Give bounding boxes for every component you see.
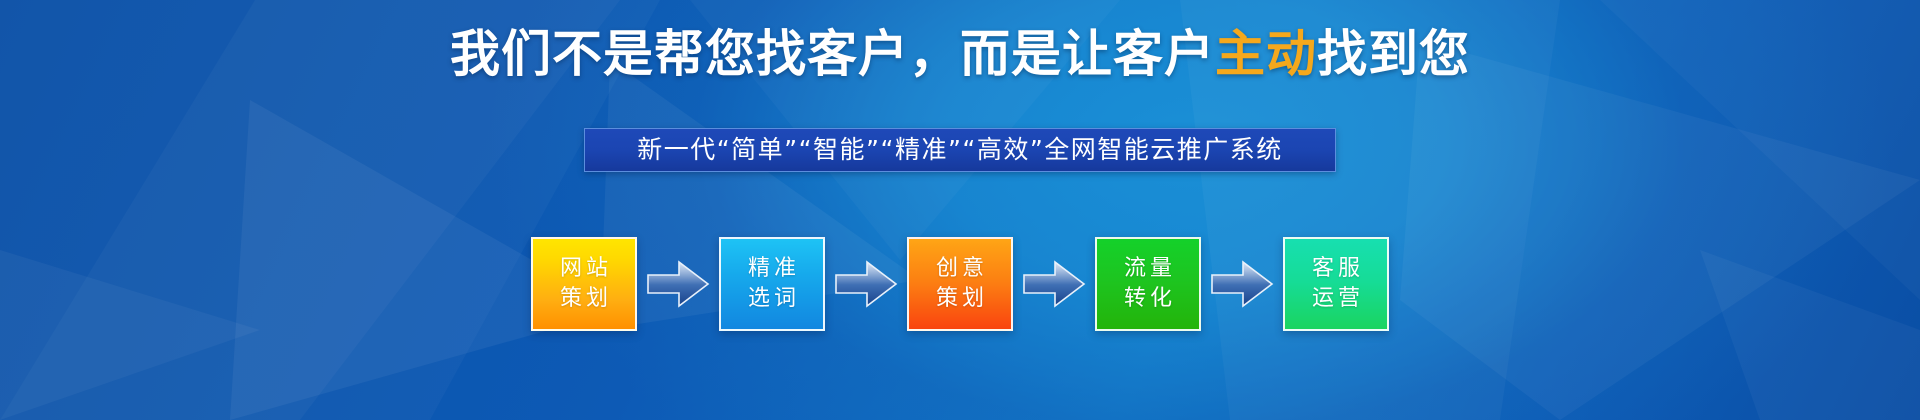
- subtitle-bar: 新一代“简单”“智能”“精准”“高效”全网智能云推广系统: [584, 128, 1336, 172]
- arrow-right-shape: [1210, 258, 1274, 310]
- process-flow: 网站 策划 精准 选词: [531, 224, 1389, 344]
- arrow-right-shape: [834, 258, 898, 310]
- flow-step-traffic-conversion[interactable]: 流量 转化: [1095, 237, 1201, 331]
- flow-step-website-planning[interactable]: 网站 策划: [531, 237, 637, 331]
- flow-step-creative-planning[interactable]: 创意 策划: [907, 237, 1013, 331]
- arrow-right-shape: [646, 258, 710, 310]
- bg-shape-triangle-g: [1700, 250, 1920, 420]
- step-label-line1: 网站: [556, 254, 612, 284]
- step-label-line1: 精准: [744, 254, 800, 284]
- step-label-line2: 转化: [1120, 284, 1176, 314]
- step-label-line2: 策划: [932, 284, 988, 314]
- headline-part-2: 找到您: [1317, 25, 1470, 83]
- bg-shape-triangle-f: [0, 250, 260, 420]
- step-label-line2: 选词: [744, 284, 800, 314]
- bg-shape-triangle-d: [1400, 40, 1920, 420]
- arrow-right-icon: [1022, 258, 1086, 310]
- step-label-line1: 创意: [932, 254, 988, 284]
- flow-step-precise-keywords[interactable]: 精准 选词: [719, 237, 825, 331]
- arrow-right-icon: [834, 258, 898, 310]
- step-label-line1: 流量: [1120, 254, 1176, 284]
- arrow-right-icon: [646, 258, 710, 310]
- promo-banner: 我们不是帮您找客户，而是让客户主动找到您 新一代“简单”“智能”“精准”“高效”…: [0, 0, 1920, 420]
- headline-accent: 主动: [1215, 25, 1317, 83]
- step-label-line1: 客服: [1308, 254, 1364, 284]
- step-label-line2: 运营: [1308, 284, 1364, 314]
- headline: 我们不是帮您找客户，而是让客户主动找到您: [0, 22, 1920, 86]
- arrow-right-shape: [1022, 258, 1086, 310]
- flow-step-customer-service[interactable]: 客服 运营: [1283, 237, 1389, 331]
- arrow-right-icon: [1210, 258, 1274, 310]
- step-label-line2: 策划: [556, 284, 612, 314]
- subtitle-text: 新一代“简单”“智能”“精准”“高效”全网智能云推广系统: [637, 135, 1283, 165]
- headline-part-1: 我们不是帮您找客户，而是让客户: [450, 25, 1215, 83]
